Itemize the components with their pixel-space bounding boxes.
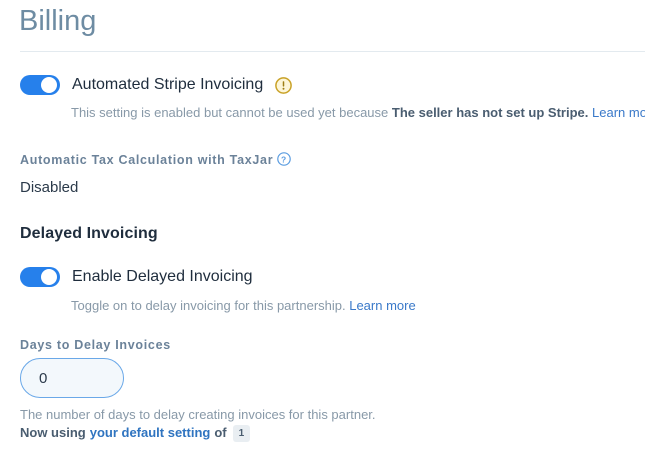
- delayed-helper-text: Toggle on to delay invoicing for this pa…: [71, 298, 349, 313]
- enable-delayed-invoicing-toggle[interactable]: [20, 267, 60, 287]
- taxjar-label-text: Automatic Tax Calculation with TaxJar: [20, 153, 273, 167]
- stripe-learn-more-link[interactable]: Learn more: [592, 105, 645, 120]
- default-setting-note: Now using your default setting of 1: [20, 424, 250, 442]
- enable-delayed-invoicing-row: Enable Delayed Invoicing: [20, 267, 253, 287]
- automated-stripe-invoicing-toggle[interactable]: [20, 75, 60, 95]
- warning-circle-icon[interactable]: [275, 77, 292, 94]
- default-prefix-text: Now using: [20, 424, 86, 442]
- default-setting-link[interactable]: your default setting: [90, 424, 211, 442]
- helper-prefix-text: This setting is enabled but cannot be us…: [71, 105, 392, 120]
- days-to-delay-input[interactable]: [20, 358, 124, 398]
- automated-stripe-invoicing-helper: This setting is enabled but cannot be us…: [71, 104, 645, 121]
- days-to-delay-help-text: The number of days to delay creating inv…: [20, 406, 376, 423]
- automated-stripe-invoicing-row: Automated Stripe Invoicing: [20, 75, 292, 95]
- default-value-badge: 1: [233, 425, 251, 442]
- toggle-knob: [41, 77, 57, 93]
- helper-bold-text: The seller has not set up Stripe.: [392, 105, 589, 120]
- question-circle-icon[interactable]: ?: [277, 152, 291, 166]
- default-suffix-text: of: [214, 424, 226, 442]
- automated-stripe-invoicing-label: Automated Stripe Invoicing: [72, 75, 263, 95]
- svg-text:?: ?: [282, 154, 288, 164]
- toggle-knob: [41, 269, 57, 285]
- delayed-learn-more-link[interactable]: Learn more: [349, 298, 415, 313]
- page-title: Billing: [19, 1, 96, 41]
- taxjar-value: Disabled: [20, 178, 78, 198]
- header-divider: [20, 51, 645, 52]
- taxjar-field-label: Automatic Tax Calculation with TaxJar ?: [20, 152, 291, 168]
- enable-delayed-invoicing-label: Enable Delayed Invoicing: [72, 267, 253, 287]
- billing-settings-page: Billing Automated Stripe Invoicing This …: [0, 0, 645, 455]
- delayed-invoicing-heading: Delayed Invoicing: [20, 223, 158, 244]
- enable-delayed-invoicing-helper: Toggle on to delay invoicing for this pa…: [71, 297, 416, 314]
- days-to-delay-label: Days to Delay Invoices: [20, 337, 171, 353]
